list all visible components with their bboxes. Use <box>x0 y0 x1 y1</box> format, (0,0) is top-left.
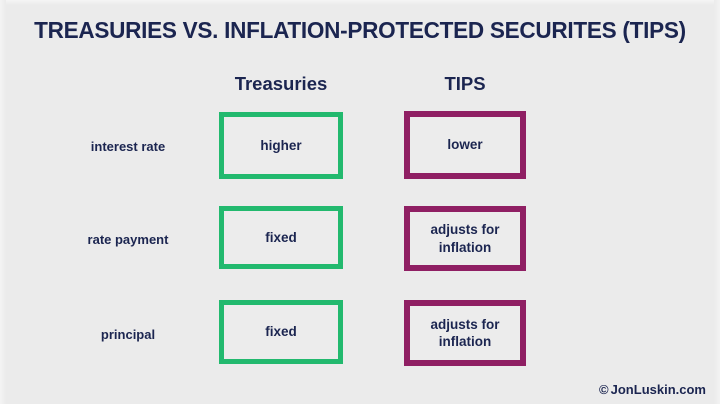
row-label-principal: principal <box>40 327 216 342</box>
top-edge-highlight <box>0 0 720 5</box>
cell-treasuries-interest-rate: higher <box>219 112 343 179</box>
column-header-tips: TIPS <box>404 73 526 95</box>
cell-treasuries-rate-payment: fixed <box>219 206 343 269</box>
cell-tips-interest-rate: lower <box>404 111 526 179</box>
left-edge-highlight <box>0 0 6 404</box>
row-label-rate-payment: rate payment <box>40 232 216 247</box>
page-title: TREASURIES VS. INFLATION-PROTECTED SECUR… <box>14 17 705 44</box>
comparison-infographic: TREASURIES VS. INFLATION-PROTECTED SECUR… <box>0 0 720 404</box>
footer-credit: ©JonLuskin.com <box>599 382 706 397</box>
right-edge-highlight <box>714 0 720 404</box>
copyright-icon: © <box>599 382 609 397</box>
cell-tips-principal: adjusts for inflation <box>404 300 526 366</box>
row-label-interest-rate: interest rate <box>40 139 216 154</box>
cell-tips-rate-payment: adjusts for inflation <box>404 206 526 271</box>
cell-treasuries-principal: fixed <box>219 300 343 364</box>
footer-credit-label: JonLuskin.com <box>611 382 706 397</box>
column-header-treasuries: Treasuries <box>219 73 343 95</box>
